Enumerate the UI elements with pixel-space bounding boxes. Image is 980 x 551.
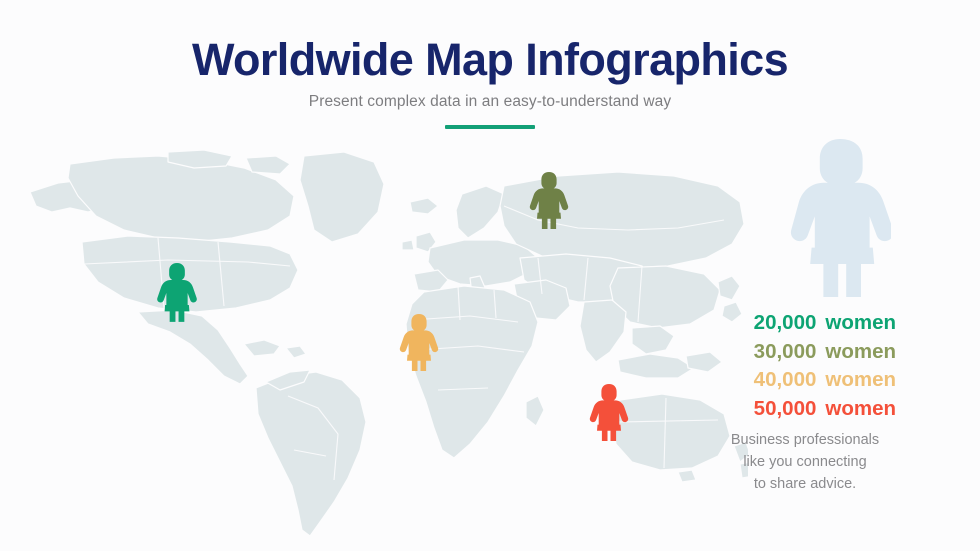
legend: 20,000 women 30,000 women 40,000 women 5… — [754, 313, 896, 427]
legend-number: 40,000 — [754, 370, 817, 391]
legend-row[interactable]: 50,000 women — [754, 399, 896, 420]
map-marker-asia[interactable] — [529, 171, 569, 231]
page-title: Worldwide Map Infographics — [0, 36, 980, 83]
legend-row[interactable]: 40,000 women — [754, 370, 896, 391]
caption-line-3: to share advice. — [710, 474, 900, 496]
slide-canvas: Worldwide Map Infographics Present compl… — [0, 0, 980, 551]
legend-row[interactable]: 20,000 women — [754, 313, 896, 334]
woman-figure-icon — [399, 313, 439, 373]
legend-number: 20,000 — [754, 313, 817, 334]
caption-line-1: Business professionals — [710, 430, 900, 452]
legend-unit: women — [825, 370, 896, 391]
woman-silhouette-icon — [789, 137, 891, 299]
legend-number: 30,000 — [754, 342, 817, 363]
legend-row[interactable]: 30,000 women — [754, 342, 896, 363]
world-map — [18, 150, 748, 540]
legend-unit: women — [825, 313, 896, 334]
title-divider — [445, 125, 535, 129]
map-marker-oceania[interactable] — [589, 383, 629, 443]
page-subtitle: Present complex data in an easy-to-under… — [0, 93, 980, 111]
legend-number: 50,000 — [754, 399, 817, 420]
woman-figure-icon — [156, 262, 198, 324]
caption-text: Business professionals like you connecti… — [710, 430, 900, 495]
large-woman-figure — [789, 137, 891, 299]
map-marker-africa[interactable] — [399, 313, 439, 373]
world-map-svg — [18, 150, 748, 540]
legend-unit: women — [825, 342, 896, 363]
caption-line-2: like you connecting — [710, 452, 900, 474]
legend-unit: women — [825, 399, 896, 420]
woman-figure-icon — [529, 171, 569, 231]
woman-figure-icon — [589, 383, 629, 443]
map-marker-north-america[interactable] — [156, 262, 198, 324]
header: Worldwide Map Infographics Present compl… — [0, 36, 980, 129]
